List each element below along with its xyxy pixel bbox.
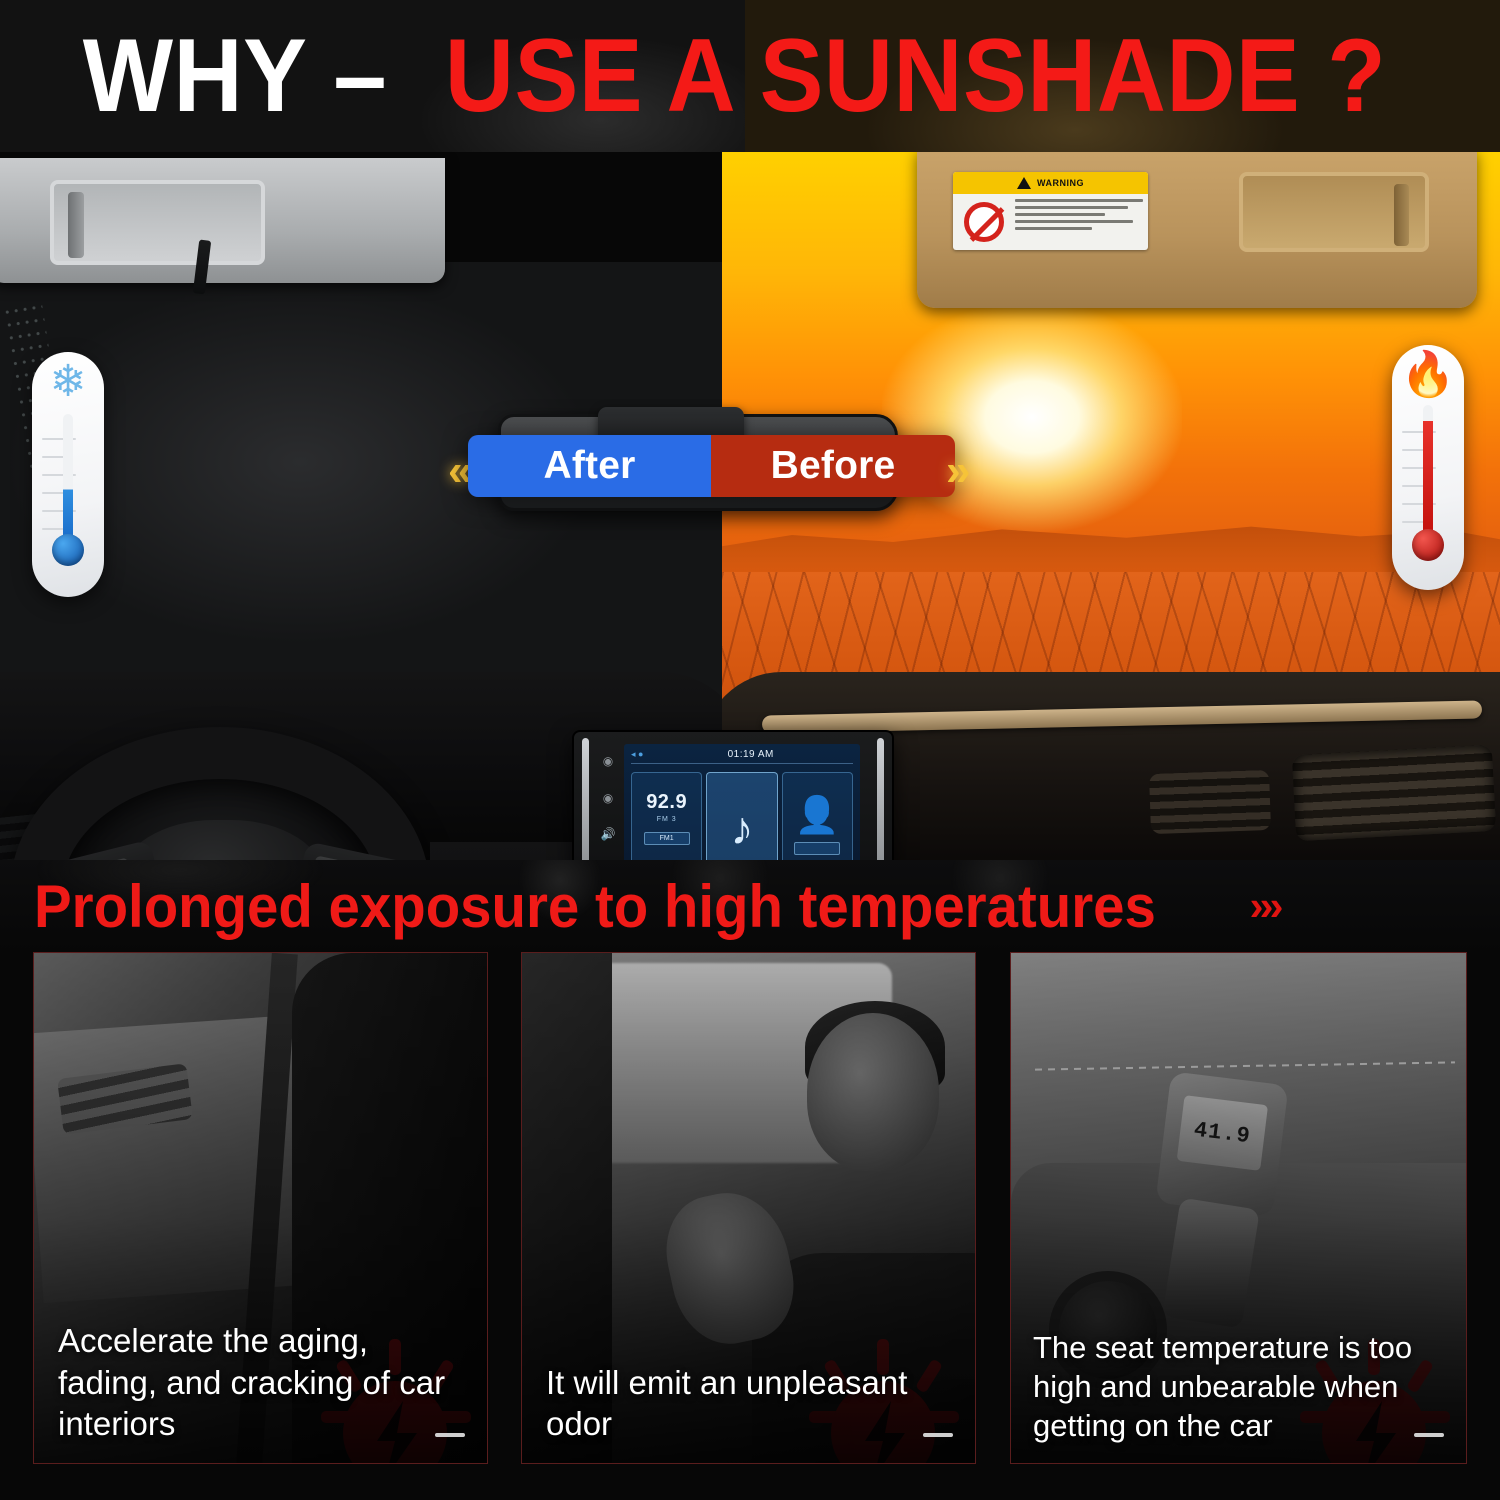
caption-underscore [435, 1433, 465, 1437]
caption-underscore [923, 1433, 953, 1437]
center-air-vent [1149, 770, 1271, 834]
panel-unpleasant-odor: It will emit an unpleasant odor [521, 952, 976, 1464]
section-heading-bar: Prolonged exposure to high temperatures … [0, 860, 1500, 952]
snowflake-icon: ❄ [32, 360, 104, 404]
title-word-why: WHY [83, 24, 308, 128]
airbag-warning-label: WARNING [953, 172, 1148, 250]
status-icons: ◂ ● [631, 749, 643, 760]
radio-frequency: 92.9 [646, 791, 687, 814]
sun-glare [882, 302, 1182, 532]
panel-aging-fading-cracking: Accelerate the aging, fading, and cracki… [33, 952, 488, 1464]
head-unit-screen[interactable]: ◂ ● 01:19 AM 92.9 FM 3 FM1 ◀ ▶ [624, 744, 860, 860]
section-chevrons-icon: ››› [1250, 882, 1280, 930]
visor-mirror-cover [50, 180, 265, 265]
head-unit-trim-left [582, 738, 589, 860]
home-tiles: 92.9 FM 3 FM1 ◀ ▶ ♪ ⏮ ⏭ [624, 764, 860, 860]
before-after-hero: WARNING « [0, 152, 1500, 860]
infotainment-head-unit[interactable]: ◉ ◉ 🔊 ➕ ⚊ ◂ ● 01:19 AM 92.9 FM 3 FM1 [572, 730, 894, 860]
thermometer-bulb [1412, 529, 1444, 561]
before-after-toggle[interactable]: After Before [468, 435, 955, 497]
status-bar: ◂ ● 01:19 AM [624, 744, 860, 760]
title-phrase-use-a-sunshade: USE A SUNSHADE ? [445, 24, 1386, 128]
warning-label-fineprint [1015, 194, 1148, 250]
person-icon: 👤 [795, 797, 840, 833]
before-badge[interactable]: Before [711, 435, 955, 497]
media-tile[interactable]: ♪ ⏮ ⏭ [706, 772, 777, 860]
after-badge[interactable]: After [468, 435, 711, 497]
clock-label: 01:19 AM [648, 749, 853, 760]
menu-key-icon[interactable]: ◉ [603, 791, 613, 805]
home-key-icon[interactable]: ◉ [603, 754, 613, 768]
radio-preset-chip[interactable]: FM1 [644, 832, 690, 845]
warning-label-header: WARNING [953, 172, 1148, 194]
page-title: WHY – USE A SUNSHADE ? [0, 0, 1500, 152]
sun-visor-grey [0, 158, 445, 283]
hot-thermometer: 🔥 [1392, 345, 1464, 590]
thermometer-column [1423, 405, 1433, 539]
no-child-seat-icon [953, 194, 1015, 250]
header-banner: WHY – USE A SUNSHADE ? [0, 0, 1500, 152]
section-heading: Prolonged exposure to high temperatures [34, 872, 1156, 941]
radio-tile[interactable]: 92.9 FM 3 FM1 ◀ ▶ [631, 772, 702, 860]
volume-key-icon[interactable]: 🔊 [601, 827, 616, 841]
warning-triangle-icon [1017, 177, 1031, 189]
chevron-right-icon: » [946, 449, 970, 493]
passenger-air-vent [1292, 745, 1496, 841]
panel-caption: It will emit an unpleasant odor [546, 1362, 957, 1445]
infographic-root: WHY – USE A SUNSHADE ? [0, 0, 1500, 1500]
cold-thermometer: ❄ [32, 352, 104, 597]
flame-icon: 🔥 [1392, 353, 1464, 397]
caption-underscore [1414, 1433, 1444, 1437]
music-note-icon: ♪ [730, 805, 753, 851]
title-dash: – [321, 24, 400, 128]
thermometer-bulb [52, 534, 84, 566]
profile-chip[interactable] [794, 842, 840, 855]
radio-band: FM 3 [657, 816, 677, 823]
consequence-panels: Accelerate the aging, fading, and cracki… [0, 952, 1500, 1500]
warning-label-text: WARNING [1037, 178, 1084, 188]
head-unit-trim-right [877, 738, 884, 860]
panel-seat-temperature: 41.9 The seat temperature is too high an… [1010, 952, 1467, 1464]
panel-caption: The seat temperature is too high and unb… [1033, 1328, 1448, 1445]
visor-mirror-cover [1239, 172, 1429, 252]
profile-tile[interactable]: 👤 ◀ ▶ [782, 772, 853, 860]
head-unit-hard-keys[interactable]: ◉ ◉ 🔊 ➕ ⚊ [596, 754, 620, 860]
thermometer-column [63, 414, 73, 544]
warning-label-body [953, 194, 1148, 250]
panel-caption: Accelerate the aging, fading, and cracki… [58, 1320, 469, 1445]
sun-visor-tan: WARNING [917, 152, 1477, 308]
